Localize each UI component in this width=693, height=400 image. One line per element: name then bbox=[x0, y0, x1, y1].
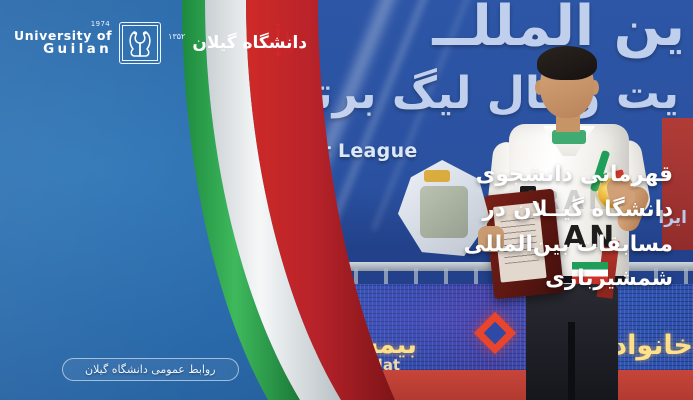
logo-latin-text: 1974 University of Guilan bbox=[14, 29, 112, 56]
athlete-hair bbox=[537, 46, 597, 80]
headline-line-2: دانشگاه گیــلان در bbox=[457, 193, 673, 228]
logo-university-line2: Guilan bbox=[43, 42, 112, 56]
gift-gold-trim bbox=[424, 170, 450, 182]
collar-green-trim bbox=[552, 130, 586, 144]
logo-year-latin: 1974 bbox=[91, 21, 110, 28]
headline-line-1: قهرمانی دانشجوی bbox=[457, 158, 673, 193]
university-logo: 1974 University of Guilan ۱۳۵۲ دانشگاه گ… bbox=[14, 22, 307, 64]
public-relations-badge: روابط عمومی دانشگاه گیلان bbox=[62, 358, 239, 381]
headline-line-4: شمشیربازی bbox=[457, 262, 673, 297]
guilan-emblem-icon bbox=[119, 22, 161, 64]
logo-persian-name: دانشگاه گیلان bbox=[192, 33, 307, 53]
page-title: قهرمانی دانشجوی دانشگاه گیــلان در مسابق… bbox=[457, 158, 673, 297]
logo-year-persian: ۱۳۵۲ bbox=[168, 32, 185, 41]
news-poster: ین المللــ یت و نال لیگ برتر Satellite M… bbox=[0, 0, 693, 400]
headline-line-3: مسابقات بین‌المللی bbox=[457, 228, 673, 263]
trouser-seam bbox=[568, 322, 575, 400]
